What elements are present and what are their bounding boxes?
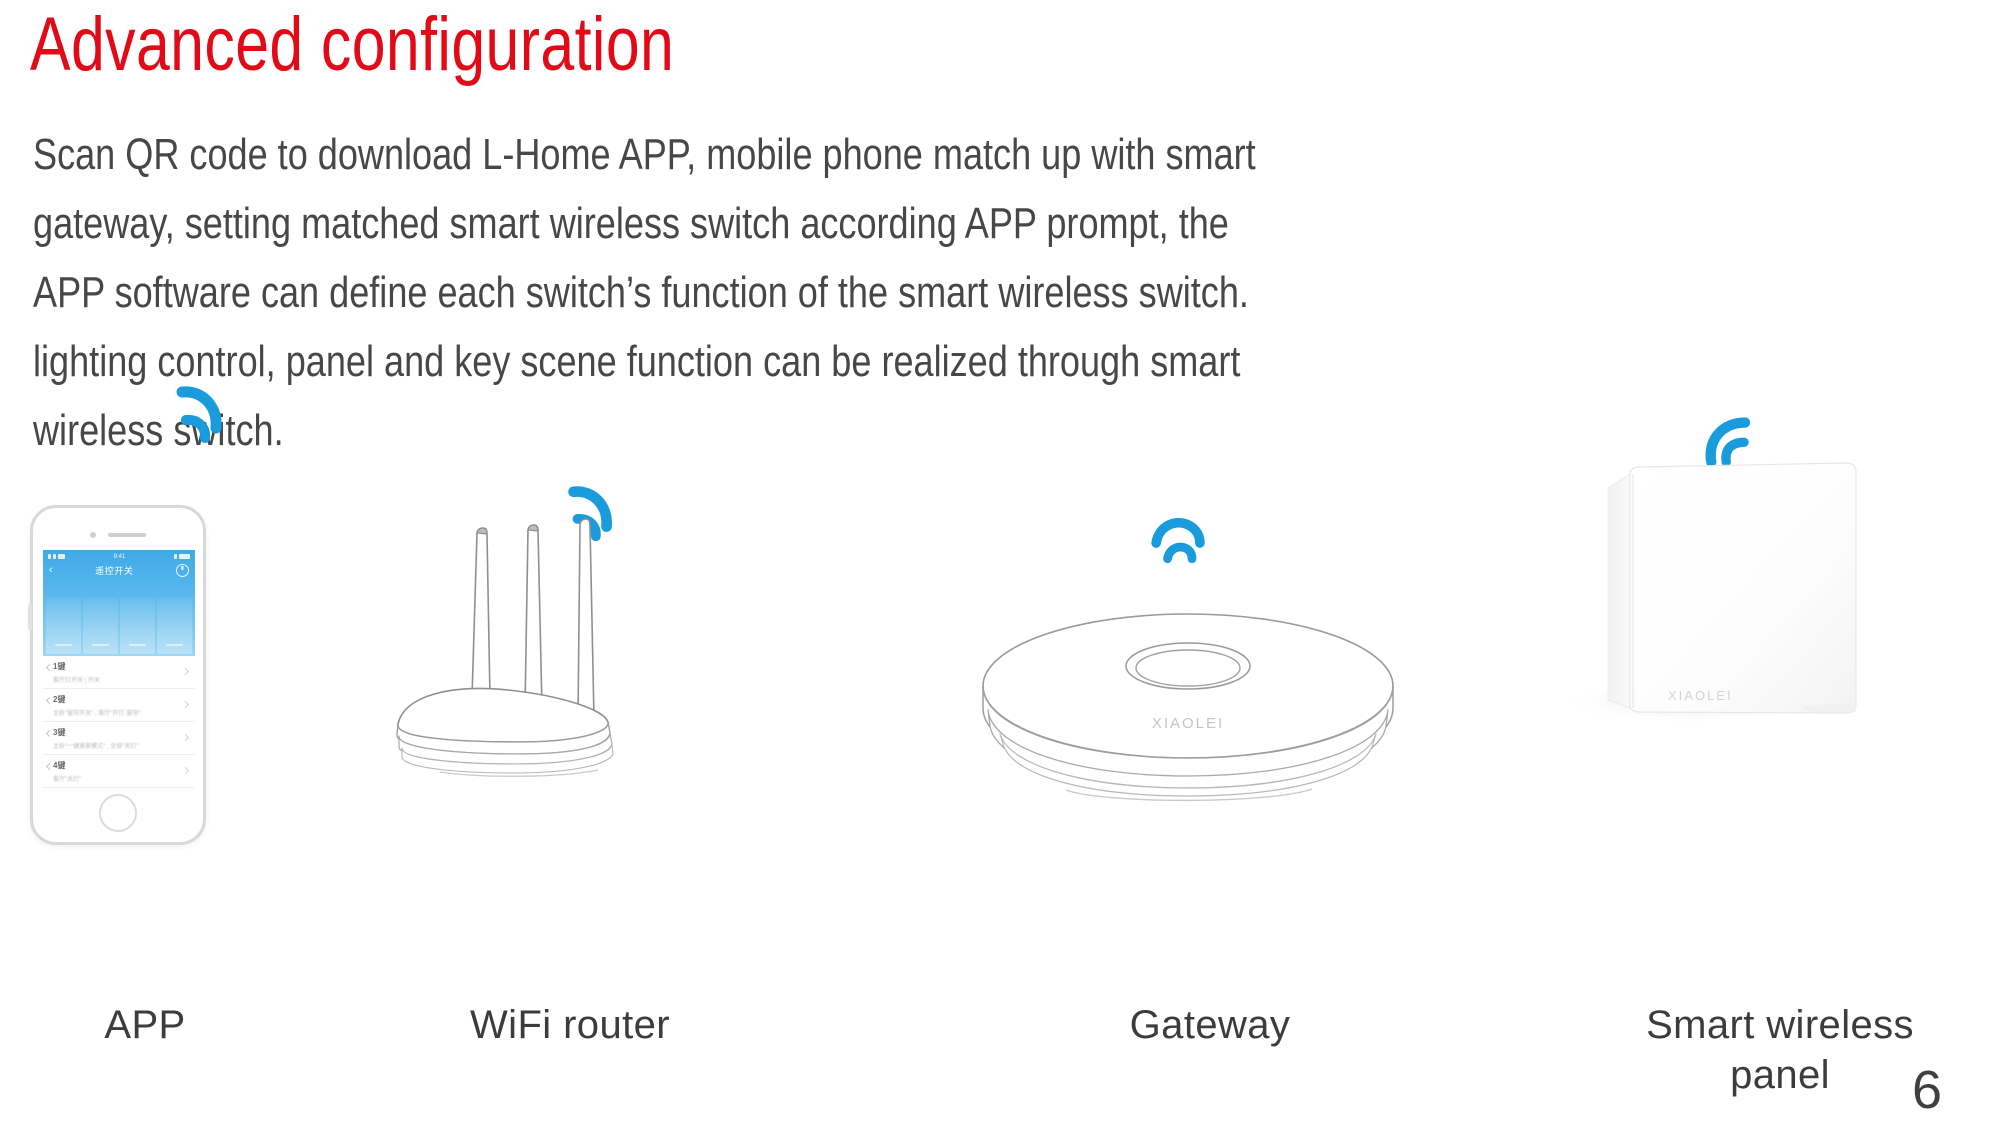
list-item[interactable]: 4键 客厅"关灯": [43, 755, 195, 788]
key-icon: [46, 697, 53, 704]
body-line-5: wireless switch.: [33, 396, 1661, 465]
phone-earpiece-area: [33, 522, 203, 548]
list-item-subtitle: 主卧"一键离家模式" , 全部"关灯": [53, 741, 187, 750]
device-app: 9:41 ‹ 遥控开关: [0, 470, 300, 1030]
list-item-title: 4键: [53, 760, 187, 771]
app-key-list: 1键 客厅灯开关 | 开关 2键 主卧"窗帘开关" , 客厅"开灯·窗帘": [43, 656, 195, 788]
status-battery-icon: [174, 554, 190, 559]
key-icon: [46, 763, 53, 770]
list-item[interactable]: 3键 主卧"一键离家模式" , 全部"关灯": [43, 722, 195, 755]
caption-app: APP: [0, 1000, 290, 1050]
list-item-title: 3键: [53, 727, 187, 738]
chevron-right-icon: [182, 767, 189, 774]
app-hero-banner: 9:41 ‹ 遥控开关: [43, 550, 195, 656]
list-item-title: 1键: [53, 661, 187, 672]
device-gateway: XIAOLEI: [960, 470, 1460, 1030]
hero-card[interactable]: [120, 598, 155, 654]
list-item-subtitle: 客厅灯开关 | 开关: [53, 675, 187, 684]
smart-wireless-panel-art: XIAOLEI: [1560, 460, 1980, 760]
gateway-disc-line-art: XIAOLEI: [970, 590, 1410, 830]
wifi-signal-icon: [168, 380, 232, 452]
status-signal-icon: [48, 554, 65, 559]
hero-card[interactable]: [157, 598, 192, 654]
phone-screen[interactable]: 9:41 ‹ 遥控开关: [43, 550, 195, 792]
key-icon: [46, 730, 53, 737]
chevron-right-icon: [182, 668, 189, 675]
list-item[interactable]: 2键 主卧"窗帘开关" , 客厅"开灯·窗帘": [43, 689, 195, 722]
device-diagram: 9:41 ‹ 遥控开关: [0, 470, 2000, 1030]
key-icon: [46, 664, 53, 671]
body-line-2: gateway, setting matched smart wireless …: [33, 189, 1661, 258]
status-time: 9:41: [114, 554, 126, 560]
page-title: Advanced configuration: [30, 2, 674, 88]
device-router: [380, 470, 780, 1030]
body-line-3: APP software can define each switch’s fu…: [33, 258, 1661, 327]
wifi-router-line-art: [380, 510, 760, 800]
list-item-title: 2键: [53, 694, 187, 705]
hero-card[interactable]: [83, 598, 118, 654]
body-line-1: Scan QR code to download L-Home APP, mob…: [33, 120, 1661, 189]
list-item-subtitle: 主卧"窗帘开关" , 客厅"开灯·窗帘": [53, 708, 187, 717]
camera-dot-icon: [90, 532, 96, 538]
status-bar: 9:41: [43, 552, 195, 561]
hero-switch-cards: [43, 598, 195, 656]
caption-router: WiFi router: [370, 1000, 770, 1050]
speaker-slot-icon: [108, 533, 146, 537]
phone-mockup: 9:41 ‹ 遥控开关: [30, 505, 206, 845]
app-navbar: ‹ 遥控开关: [43, 562, 195, 578]
chevron-left-icon[interactable]: ‹: [49, 565, 53, 576]
chevron-right-icon: [182, 734, 189, 741]
caption-gateway: Gateway: [960, 1000, 1460, 1050]
wifi-signal-icon: [1150, 515, 1206, 571]
device-panel: XIAOLEI: [1560, 470, 2000, 1030]
chevron-right-icon: [182, 701, 189, 708]
app-screen-title: 遥控开关: [95, 564, 133, 577]
caption-panel-line1: Smart wireless: [1560, 1000, 2000, 1050]
panel-brand-text: XIAOLEI: [1668, 688, 1733, 703]
hero-card[interactable]: [46, 598, 81, 654]
gear-icon[interactable]: [176, 564, 189, 577]
phone-side-button[interactable]: [28, 604, 32, 630]
list-item-subtitle: 客厅"关灯": [53, 774, 187, 783]
body-line-4: lighting control, panel and key scene fu…: [33, 327, 1661, 396]
page-number: 6: [1912, 1060, 1942, 1120]
slide-canvas: Advanced configuration Scan QR code to d…: [0, 0, 2000, 1128]
body-paragraph: Scan QR code to download L-Home APP, mob…: [33, 120, 1661, 465]
list-item[interactable]: 1键 客厅灯开关 | 开关: [43, 656, 195, 689]
gateway-brand-text: XIAOLEI: [1152, 715, 1224, 732]
home-button-icon[interactable]: [99, 794, 137, 832]
